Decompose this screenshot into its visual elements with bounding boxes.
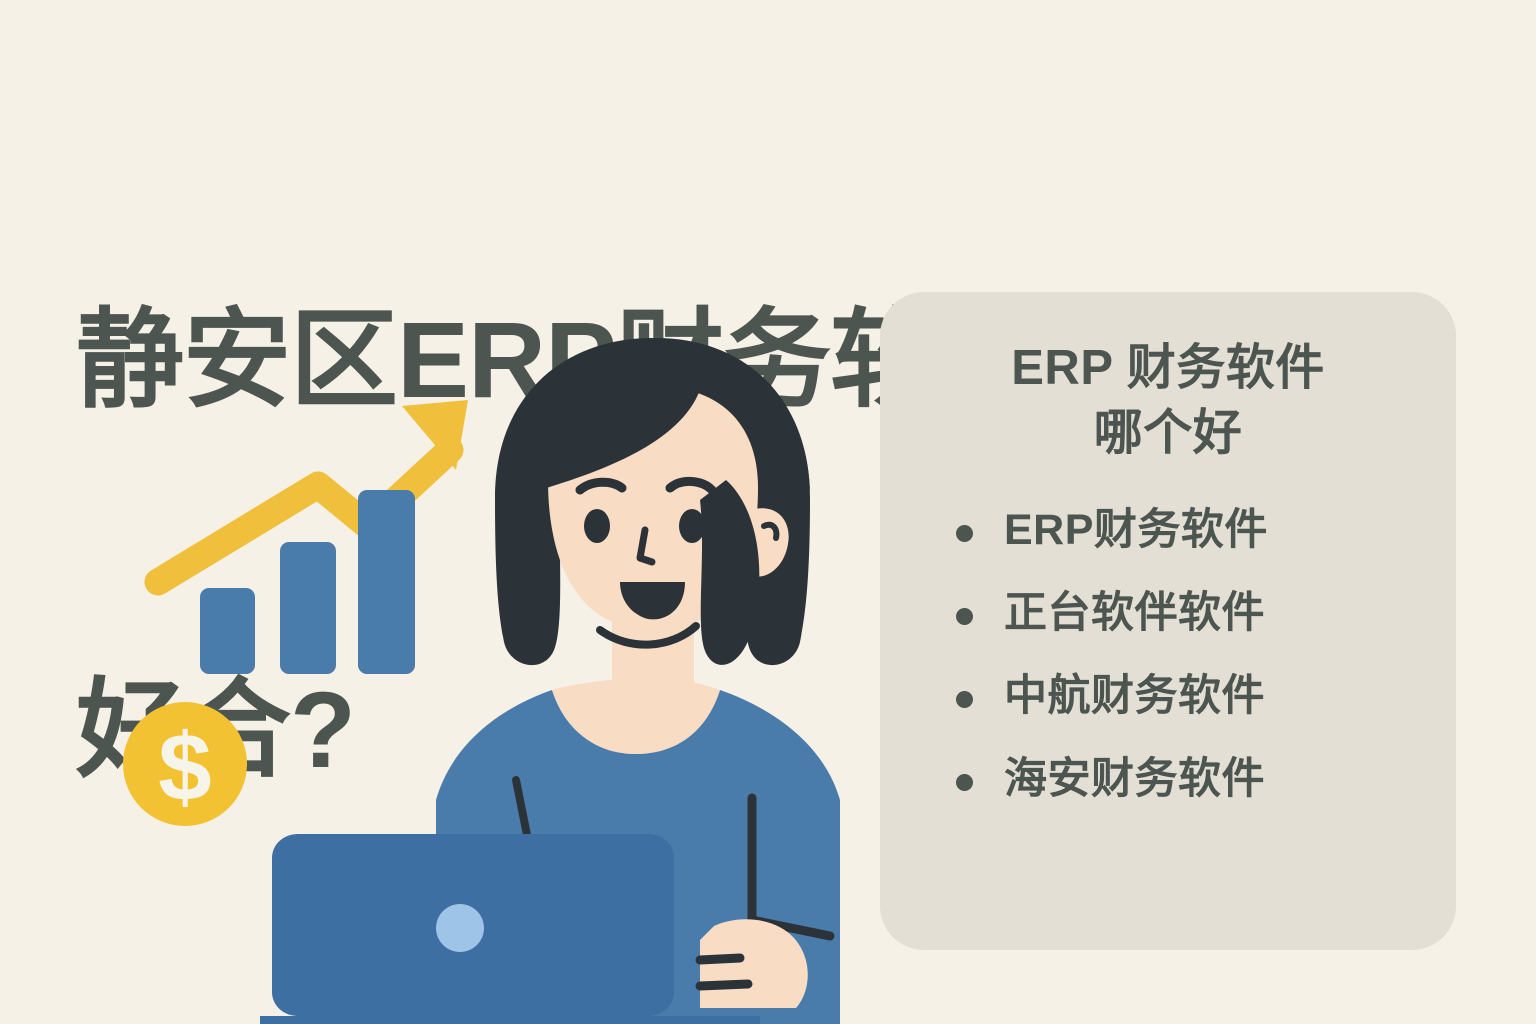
list-item-label: ERP财务软件 <box>1004 506 1268 554</box>
finger-2 <box>700 984 748 986</box>
bullet-icon <box>956 774 973 791</box>
list-item-label: 海安财务软件 <box>1004 755 1265 803</box>
card-heading-line-1: ERP 财务软件 <box>910 336 1426 401</box>
hero-illustration: $ <box>100 330 840 1024</box>
list-item: 正台软伴软件 <box>956 592 1426 635</box>
bullet-icon <box>956 525 973 542</box>
dollar-coin-icon: $ <box>123 702 247 826</box>
bullet-icon <box>956 691 973 708</box>
list-item-label: 中航财务软件 <box>1004 672 1265 720</box>
eye-right <box>679 509 705 543</box>
laptop-logo-icon <box>436 904 484 952</box>
finger-1 <box>700 958 740 960</box>
card-item-list: ERP财务软件 正台软伴软件 中航财务软件 海安财务软件 <box>910 509 1426 801</box>
list-item: 中航财务软件 <box>956 675 1426 718</box>
list-item: 海安财务软件 <box>956 758 1426 801</box>
poster-canvas: 静安区ERP财务软件哪个 好合? $ <box>0 0 1536 1024</box>
bullet-icon <box>956 608 973 625</box>
card-heading-line-2: 哪个好 <box>910 401 1426 466</box>
laptop-base <box>260 1016 760 1024</box>
eye-left <box>584 509 610 543</box>
list-item: ERP财务软件 <box>956 509 1426 552</box>
bar-chart-icon <box>200 490 415 674</box>
list-item-label: 正台软伴软件 <box>1004 589 1265 637</box>
info-card: ERP 财务软件 哪个好 ERP财务软件 正台软伴软件 中航财务软件 海安财务软… <box>880 292 1456 950</box>
card-heading: ERP 财务软件 哪个好 <box>910 336 1426 465</box>
svg-text:$: $ <box>158 714 211 821</box>
